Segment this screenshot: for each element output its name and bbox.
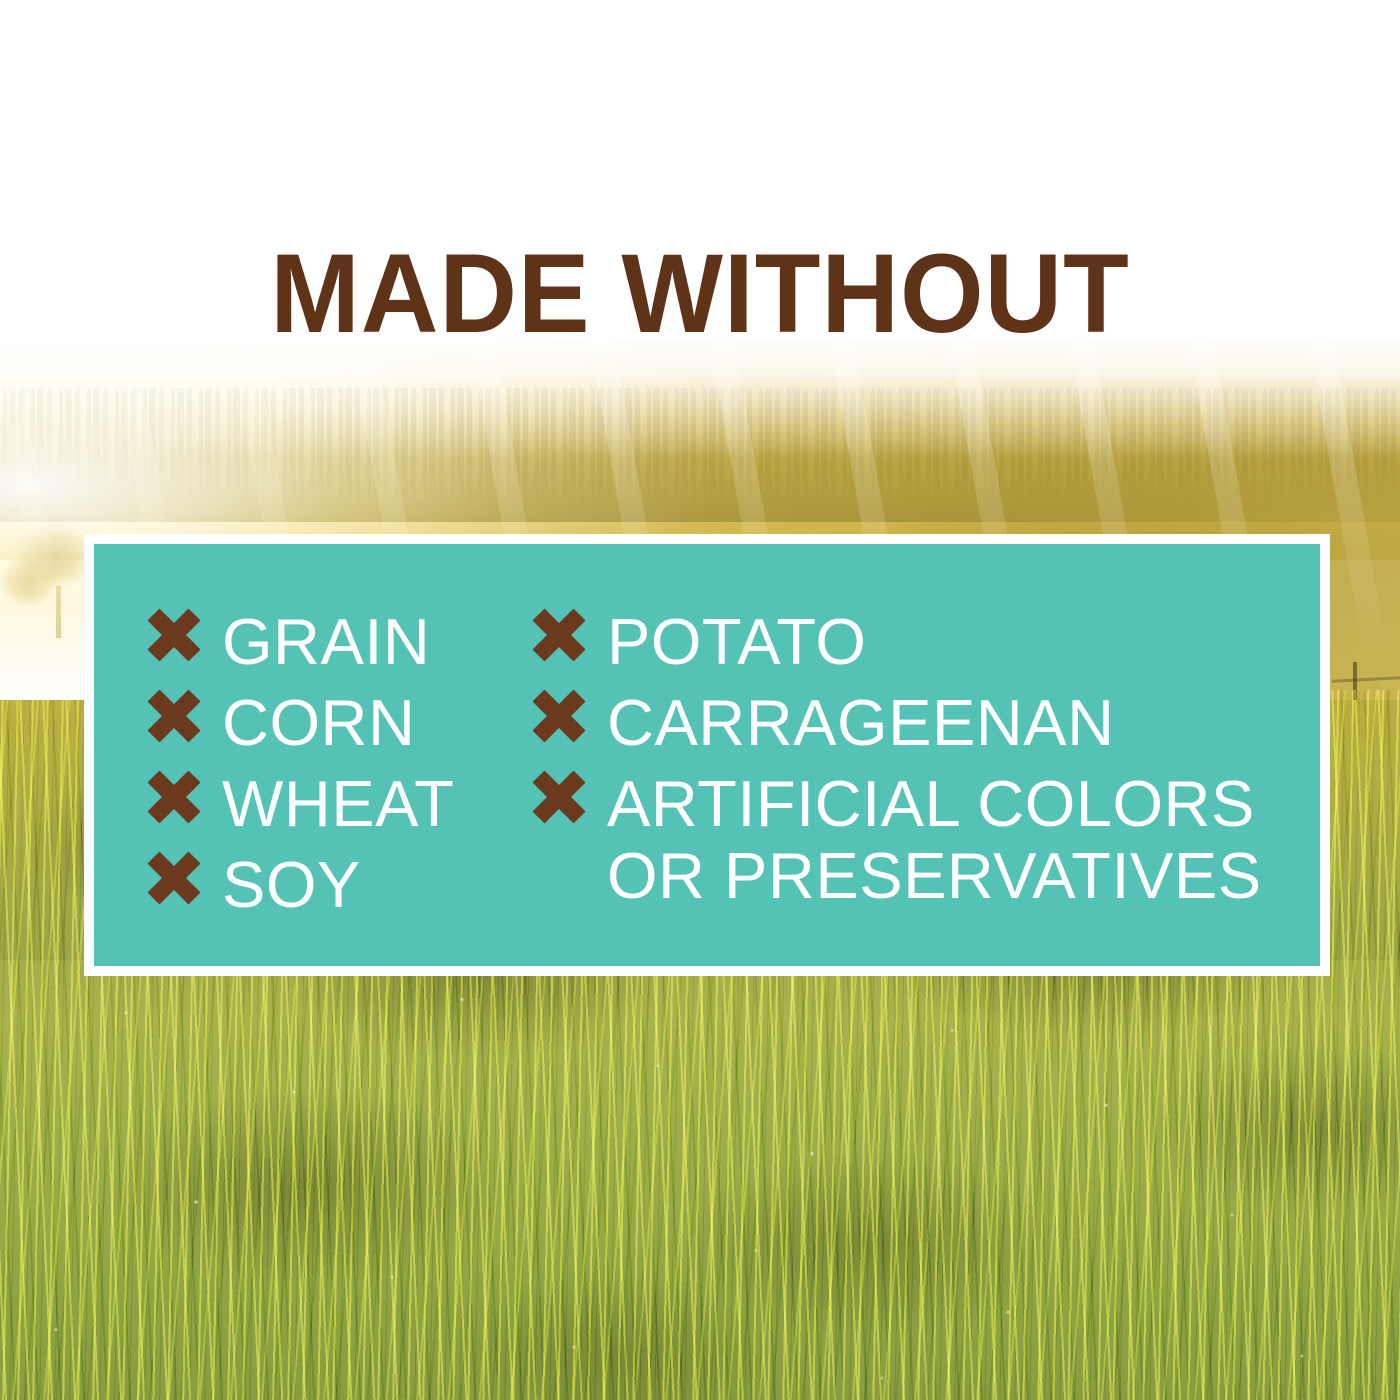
list-item-label: GRAIN — [222, 606, 430, 678]
made-without-panel: GRAIN CORN WHEAT SOY — [94, 544, 1320, 966]
list-item: ARTIFICIAL COLORS OR PRESERVATIVES — [535, 768, 1305, 930]
x-mark-icon — [535, 611, 583, 659]
x-mark-icon — [150, 773, 198, 821]
exclusion-column-right: POTATO CARRAGEENAN ARTIFICIAL COLORS OR … — [535, 606, 1305, 930]
made-without-panel-border: GRAIN CORN WHEAT SOY — [84, 534, 1330, 976]
list-item: GRAIN — [150, 606, 530, 687]
list-item: WHEAT — [150, 768, 530, 849]
list-item-label: CARRAGEENAN — [607, 687, 1115, 759]
x-mark-icon — [535, 692, 583, 740]
list-item-label: ARTIFICIAL COLORS OR PRESERVATIVES — [607, 768, 1305, 912]
list-item-label: CORN — [222, 687, 415, 759]
made-without-graphic: MADE WITHOUT GRAIN CORN WHEAT — [0, 0, 1400, 1400]
list-item-label: WHEAT — [222, 768, 454, 840]
x-mark-icon — [150, 854, 198, 902]
list-item: POTATO — [535, 606, 1305, 687]
exclusion-list: GRAIN CORN WHEAT SOY — [94, 544, 1320, 966]
list-item: CARRAGEENAN — [535, 687, 1305, 768]
seed-head-speckles — [0, 960, 1400, 1400]
x-mark-icon — [535, 773, 583, 821]
x-mark-icon — [150, 611, 198, 659]
page-title: MADE WITHOUT — [28, 238, 1372, 350]
list-item-label: SOY — [222, 849, 361, 921]
list-item-label: POTATO — [607, 606, 866, 678]
x-mark-icon — [150, 692, 198, 740]
tree-trunk — [56, 586, 61, 638]
list-item: CORN — [150, 687, 530, 768]
list-item: SOY — [150, 849, 530, 930]
exclusion-column-left: GRAIN CORN WHEAT SOY — [150, 606, 530, 930]
